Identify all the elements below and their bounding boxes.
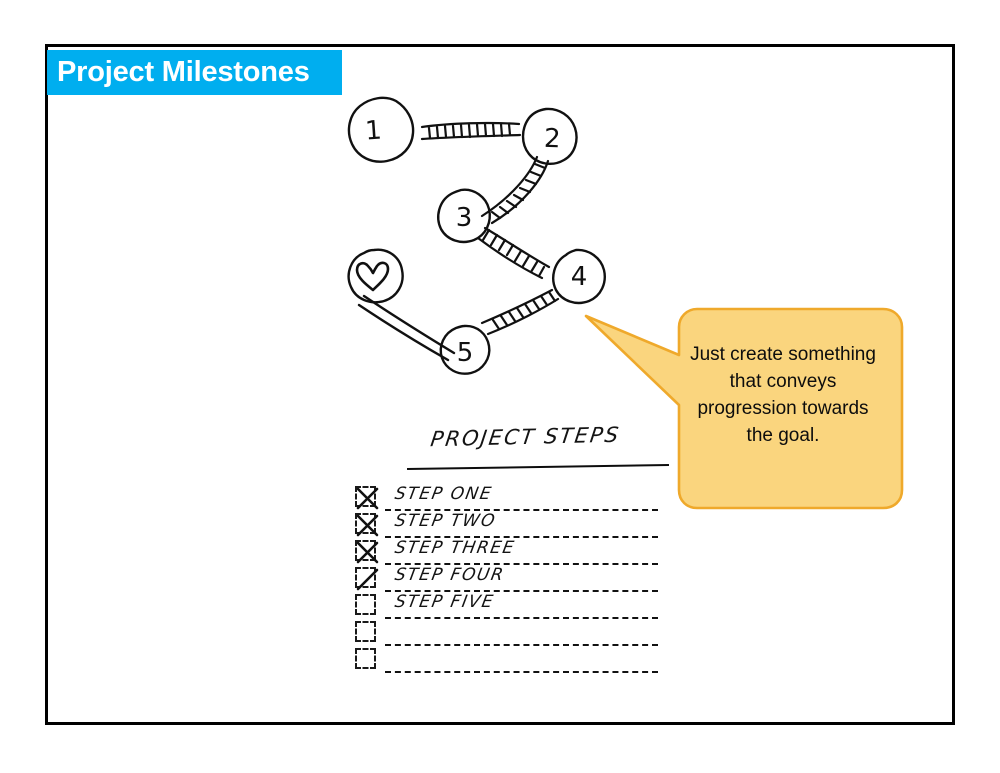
slash-mark-icon: [355, 567, 380, 592]
callout-speech-bubble: Just create something that conveys progr…: [583, 305, 908, 512]
checkbox-step-6[interactable]: [355, 621, 376, 642]
callout-text: Just create something that conveys progr…: [683, 341, 883, 449]
checklist-row-label: STEP TWO: [393, 511, 497, 531]
connector-2-3: [482, 157, 548, 223]
checklist-row: STEP THREE: [350, 539, 670, 566]
connector-3-4: [478, 228, 549, 278]
checklist-rows: STEP ONE STEP TWO STEP THREE: [350, 485, 670, 674]
checklist-row-label: STEP THREE: [393, 538, 517, 558]
checklist-row: STEP TWO: [350, 512, 670, 539]
x-mark-icon: [355, 540, 380, 565]
connector-4-5: [482, 290, 558, 334]
checklist-row-rule: [385, 644, 658, 646]
node-goal: [349, 250, 403, 303]
slide-title-banner: Project Milestones: [47, 50, 342, 95]
checkbox-step-1[interactable]: [355, 486, 376, 507]
checklist-row: [350, 647, 670, 674]
checkbox-step-4[interactable]: [355, 567, 376, 588]
checklist-row-label: STEP ONE: [393, 484, 494, 504]
x-mark-icon: [355, 486, 380, 511]
checklist-row-rule: [385, 617, 658, 619]
checklist-row-label: STEP FOUR: [393, 565, 506, 585]
checkbox-step-2[interactable]: [355, 513, 376, 534]
checklist-row-label: STEP FIVE: [393, 592, 496, 612]
checklist-row: STEP FIVE: [350, 593, 670, 620]
node-3-label: 3: [456, 203, 473, 233]
checkbox-step-3[interactable]: [355, 540, 376, 561]
checklist-row-rule: [385, 671, 658, 673]
x-mark-icon: [355, 513, 380, 538]
node-1-label: 1: [364, 115, 383, 146]
checkbox-step-5[interactable]: [355, 594, 376, 615]
page-title: Project Milestones: [57, 56, 310, 89]
connector-1-2: [422, 123, 520, 139]
node-2-label: 2: [543, 124, 561, 155]
checklist-row: STEP FOUR: [350, 566, 670, 593]
node-4-label: 4: [571, 262, 588, 292]
checkbox-step-7[interactable]: [355, 648, 376, 669]
node-5-label: 5: [457, 338, 474, 368]
checklist-row: [350, 620, 670, 647]
